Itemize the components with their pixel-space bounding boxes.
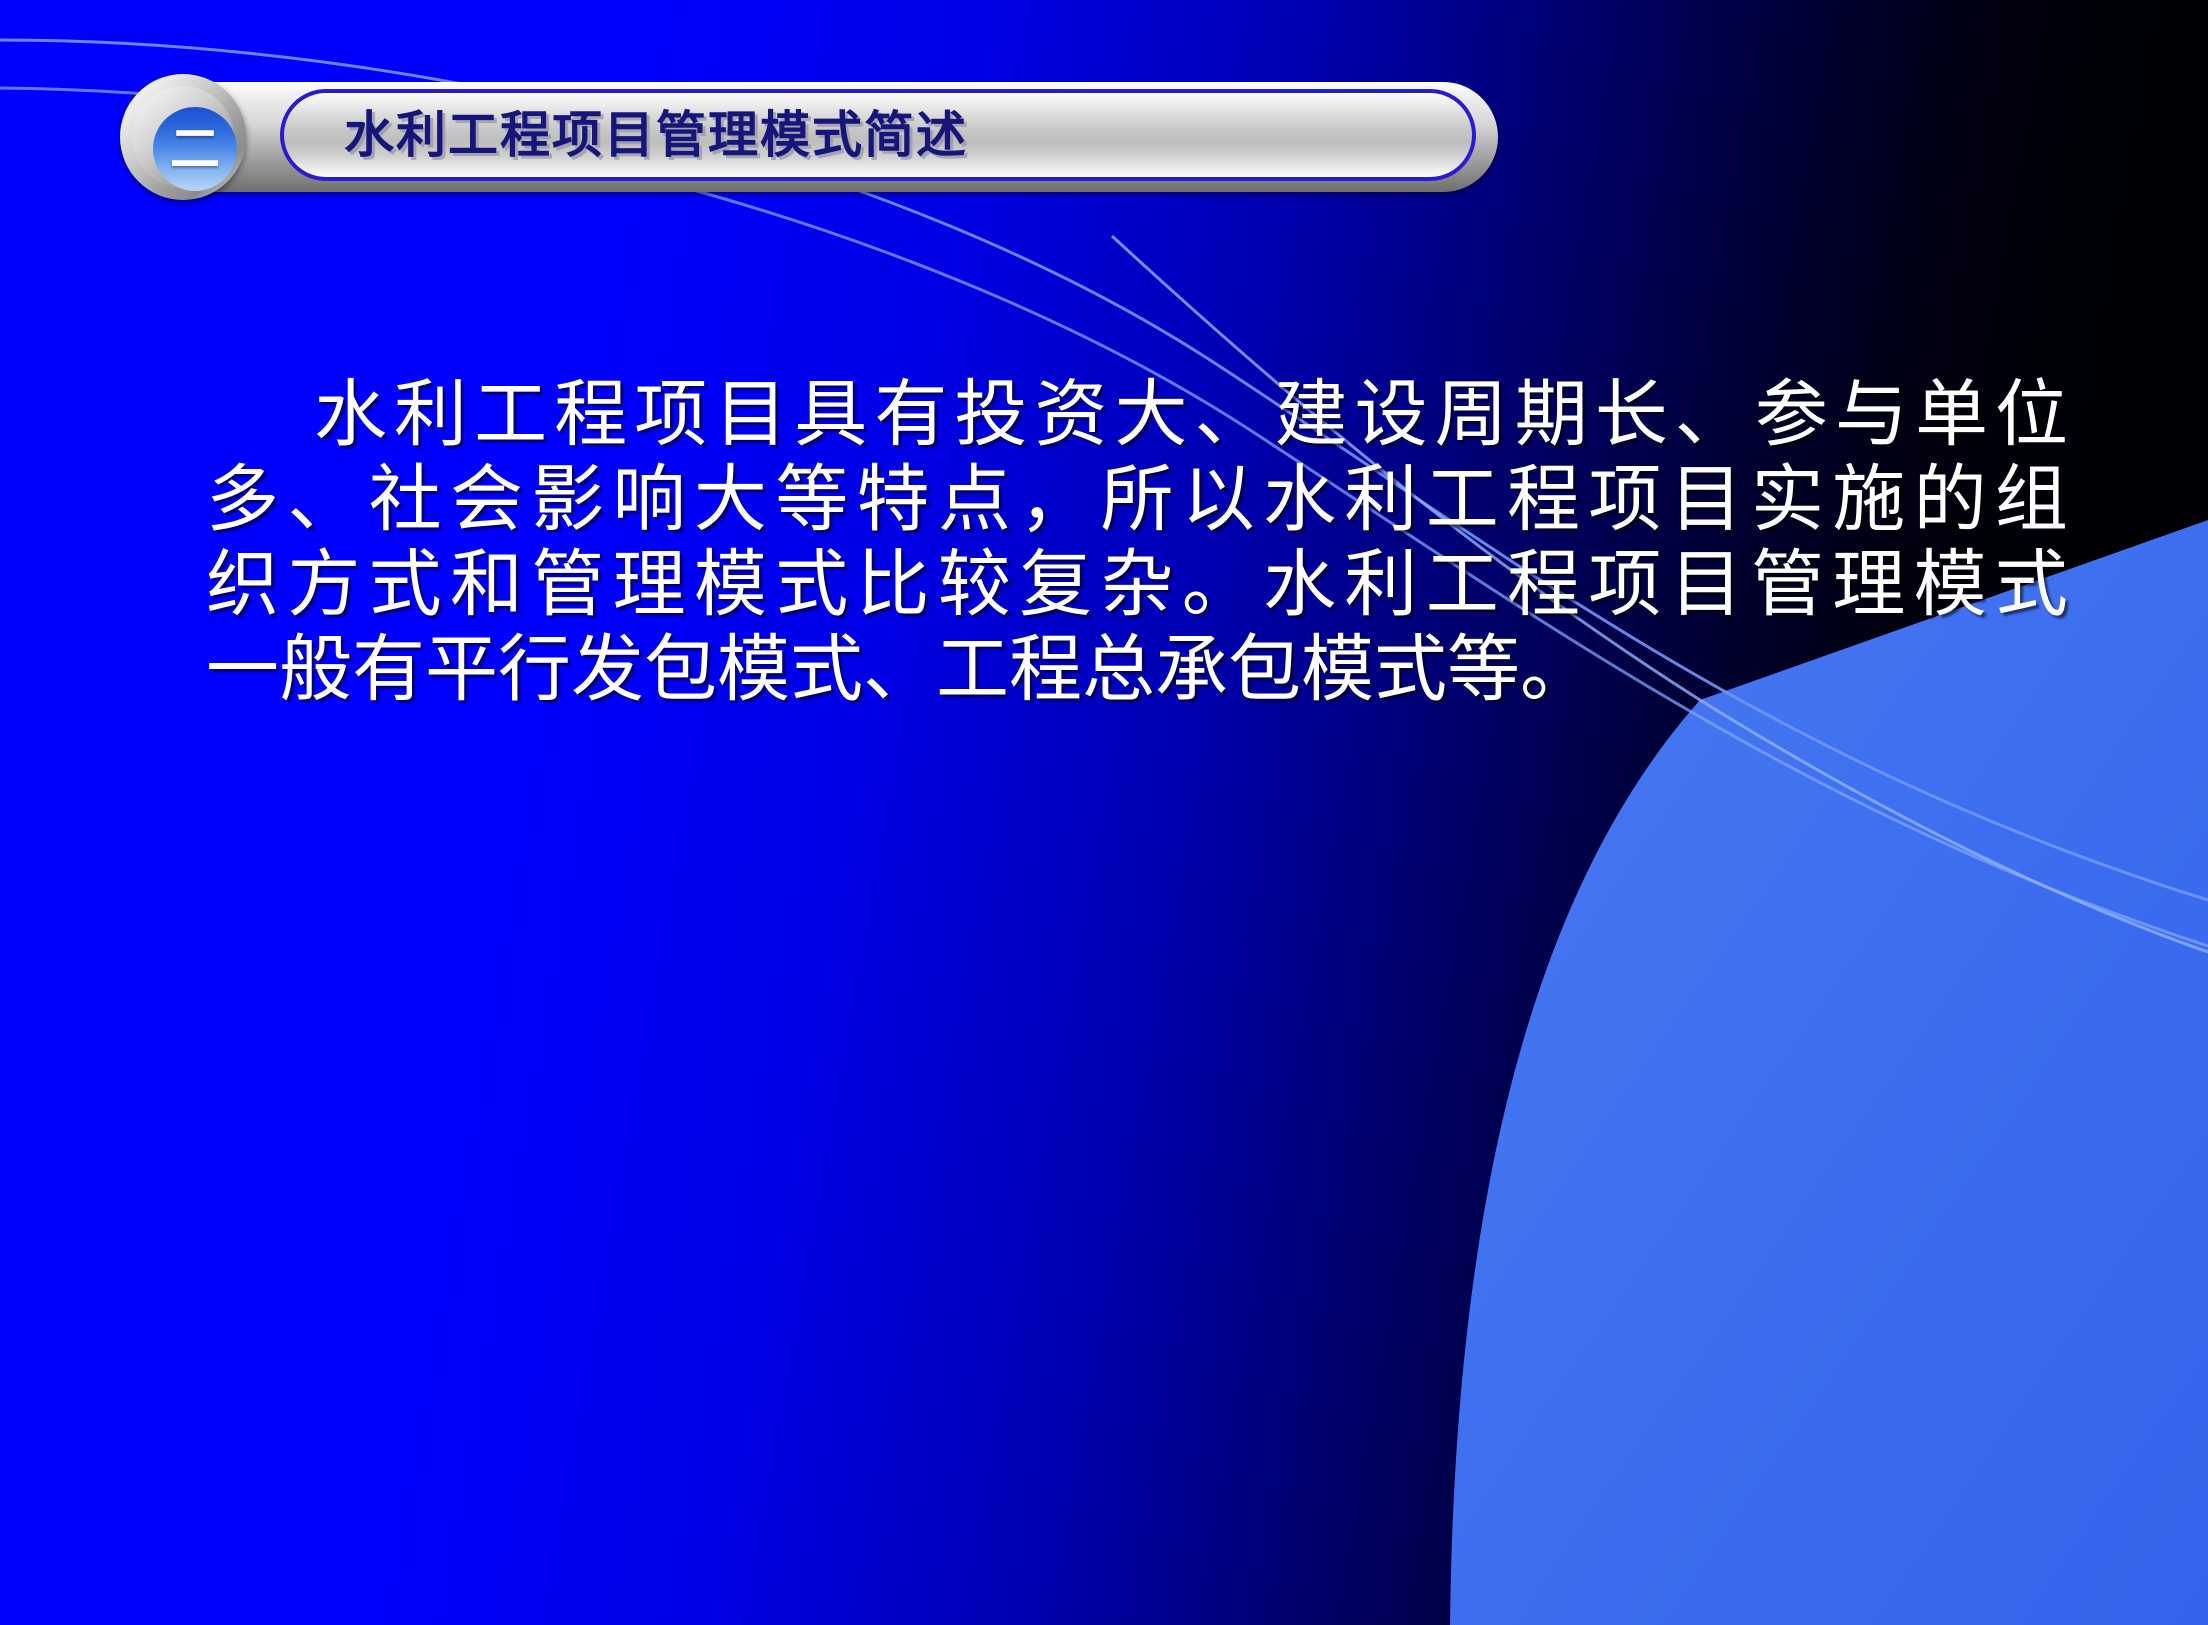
body-line: 织方式和管理模式比较复杂。水利工程项目管理模式 bbox=[206, 542, 2068, 627]
body-char: 有 bbox=[874, 372, 947, 457]
body-char: 利 bbox=[1344, 457, 1417, 542]
body-char: 比 bbox=[857, 542, 930, 627]
slide-background-decoration bbox=[0, 0, 2208, 1625]
body-char: 复 bbox=[1019, 542, 1092, 627]
body-char: 的 bbox=[1914, 457, 1987, 542]
body-char: 和 bbox=[450, 542, 523, 627]
body-char: 设 bbox=[1355, 372, 1428, 457]
body-char: 等 bbox=[775, 457, 848, 542]
body-char: 具 bbox=[794, 372, 867, 457]
body-char: 参 bbox=[1755, 372, 1828, 457]
body-char: 程 bbox=[1507, 457, 1580, 542]
body-char: 模 bbox=[694, 542, 767, 627]
body-char: 项 bbox=[1588, 542, 1661, 627]
body-char: 利 bbox=[1344, 542, 1417, 627]
body-char: 目 bbox=[1670, 457, 1743, 542]
body-char: 会 bbox=[450, 457, 523, 542]
body-char: 工 bbox=[474, 372, 547, 457]
body-char: 响 bbox=[613, 457, 686, 542]
body-char: 式 bbox=[775, 542, 848, 627]
body-char: 管 bbox=[531, 542, 604, 627]
title-bar-plate: 水利工程项目管理模式简述 bbox=[280, 89, 1476, 181]
body-char: 项 bbox=[634, 372, 707, 457]
body-char: 位 bbox=[1995, 372, 2068, 457]
body-char: ， bbox=[1019, 457, 1092, 542]
body-char: 目 bbox=[714, 372, 787, 457]
body-char: 大 bbox=[694, 457, 767, 542]
body-char: 长 bbox=[1595, 372, 1668, 457]
body-char: 影 bbox=[531, 457, 604, 542]
body-char: 目 bbox=[1670, 542, 1743, 627]
body-char: 特 bbox=[857, 457, 930, 542]
body-char: 方 bbox=[287, 542, 360, 627]
body-char: 理 bbox=[1832, 542, 1905, 627]
body-char: 水 bbox=[1263, 457, 1336, 542]
badge-ring: 二 bbox=[132, 86, 234, 188]
body-char: 点 bbox=[938, 457, 1011, 542]
body-char: 、 bbox=[287, 457, 360, 542]
badge-inner-disc: 二 bbox=[153, 107, 237, 191]
body-char: 单 bbox=[1915, 372, 1988, 457]
body-char: 水 bbox=[1263, 542, 1336, 627]
body-char: 实 bbox=[1751, 457, 1824, 542]
body-char: 社 bbox=[369, 457, 442, 542]
body-char: 杂 bbox=[1100, 542, 1173, 627]
slide-body-text: 水利工程项目具有投资大、建设周期长、参与单位 多、社会影响大等特点，所以水利工程… bbox=[206, 372, 2068, 712]
slide-title-bar: 水利工程项目管理模式简述 二 bbox=[128, 82, 1498, 192]
body-char: 工 bbox=[1426, 457, 1499, 542]
body-char: 式 bbox=[369, 542, 442, 627]
body-char: 程 bbox=[554, 372, 627, 457]
presentation-slide: 水利工程项目管理模式简述 二 水利工程项目具有投资大、建设周期长、参与单位 多、… bbox=[0, 0, 2208, 1625]
badge-number-label: 二 bbox=[170, 124, 220, 174]
body-char: 利 bbox=[394, 372, 467, 457]
body-char: 周 bbox=[1435, 372, 1508, 457]
body-char: 与 bbox=[1835, 372, 1908, 457]
body-char: 式 bbox=[1995, 542, 2068, 627]
body-char: 较 bbox=[938, 542, 1011, 627]
body-char: 项 bbox=[1588, 457, 1661, 542]
body-char: 投 bbox=[954, 372, 1027, 457]
body-char: 工 bbox=[1426, 542, 1499, 627]
body-char: 多 bbox=[206, 457, 279, 542]
body-line-text: 一般有平行发包模式、工程总承包模式等。 bbox=[206, 627, 1593, 712]
body-char: 理 bbox=[613, 542, 686, 627]
body-char: 施 bbox=[1832, 457, 1905, 542]
body-char: 建 bbox=[1275, 372, 1348, 457]
body-line: 水利工程项目具有投资大、建设周期长、参与单位 bbox=[206, 372, 2068, 457]
body-char: 织 bbox=[206, 542, 279, 627]
body-char: 期 bbox=[1515, 372, 1588, 457]
body-line: 多、社会影响大等特点，所以水利工程项目实施的组 bbox=[206, 457, 2068, 542]
body-line: 一般有平行发包模式、工程总承包模式等。 bbox=[206, 627, 2068, 712]
body-char: 模 bbox=[1914, 542, 1987, 627]
body-char: 以 bbox=[1182, 457, 1255, 542]
body-char: 。 bbox=[1182, 542, 1255, 627]
body-char: 、 bbox=[1195, 372, 1268, 457]
page-title: 水利工程项目管理模式简述 bbox=[344, 110, 968, 160]
body-char: 管 bbox=[1751, 542, 1824, 627]
body-char: 所 bbox=[1100, 457, 1173, 542]
body-char: 、 bbox=[1675, 372, 1748, 457]
body-char: 大 bbox=[1114, 372, 1187, 457]
body-char: 程 bbox=[1507, 542, 1580, 627]
body-char: 水 bbox=[314, 372, 387, 457]
section-number-badge: 二 bbox=[120, 74, 246, 200]
body-char: 资 bbox=[1034, 372, 1107, 457]
body-char: 组 bbox=[1995, 457, 2068, 542]
